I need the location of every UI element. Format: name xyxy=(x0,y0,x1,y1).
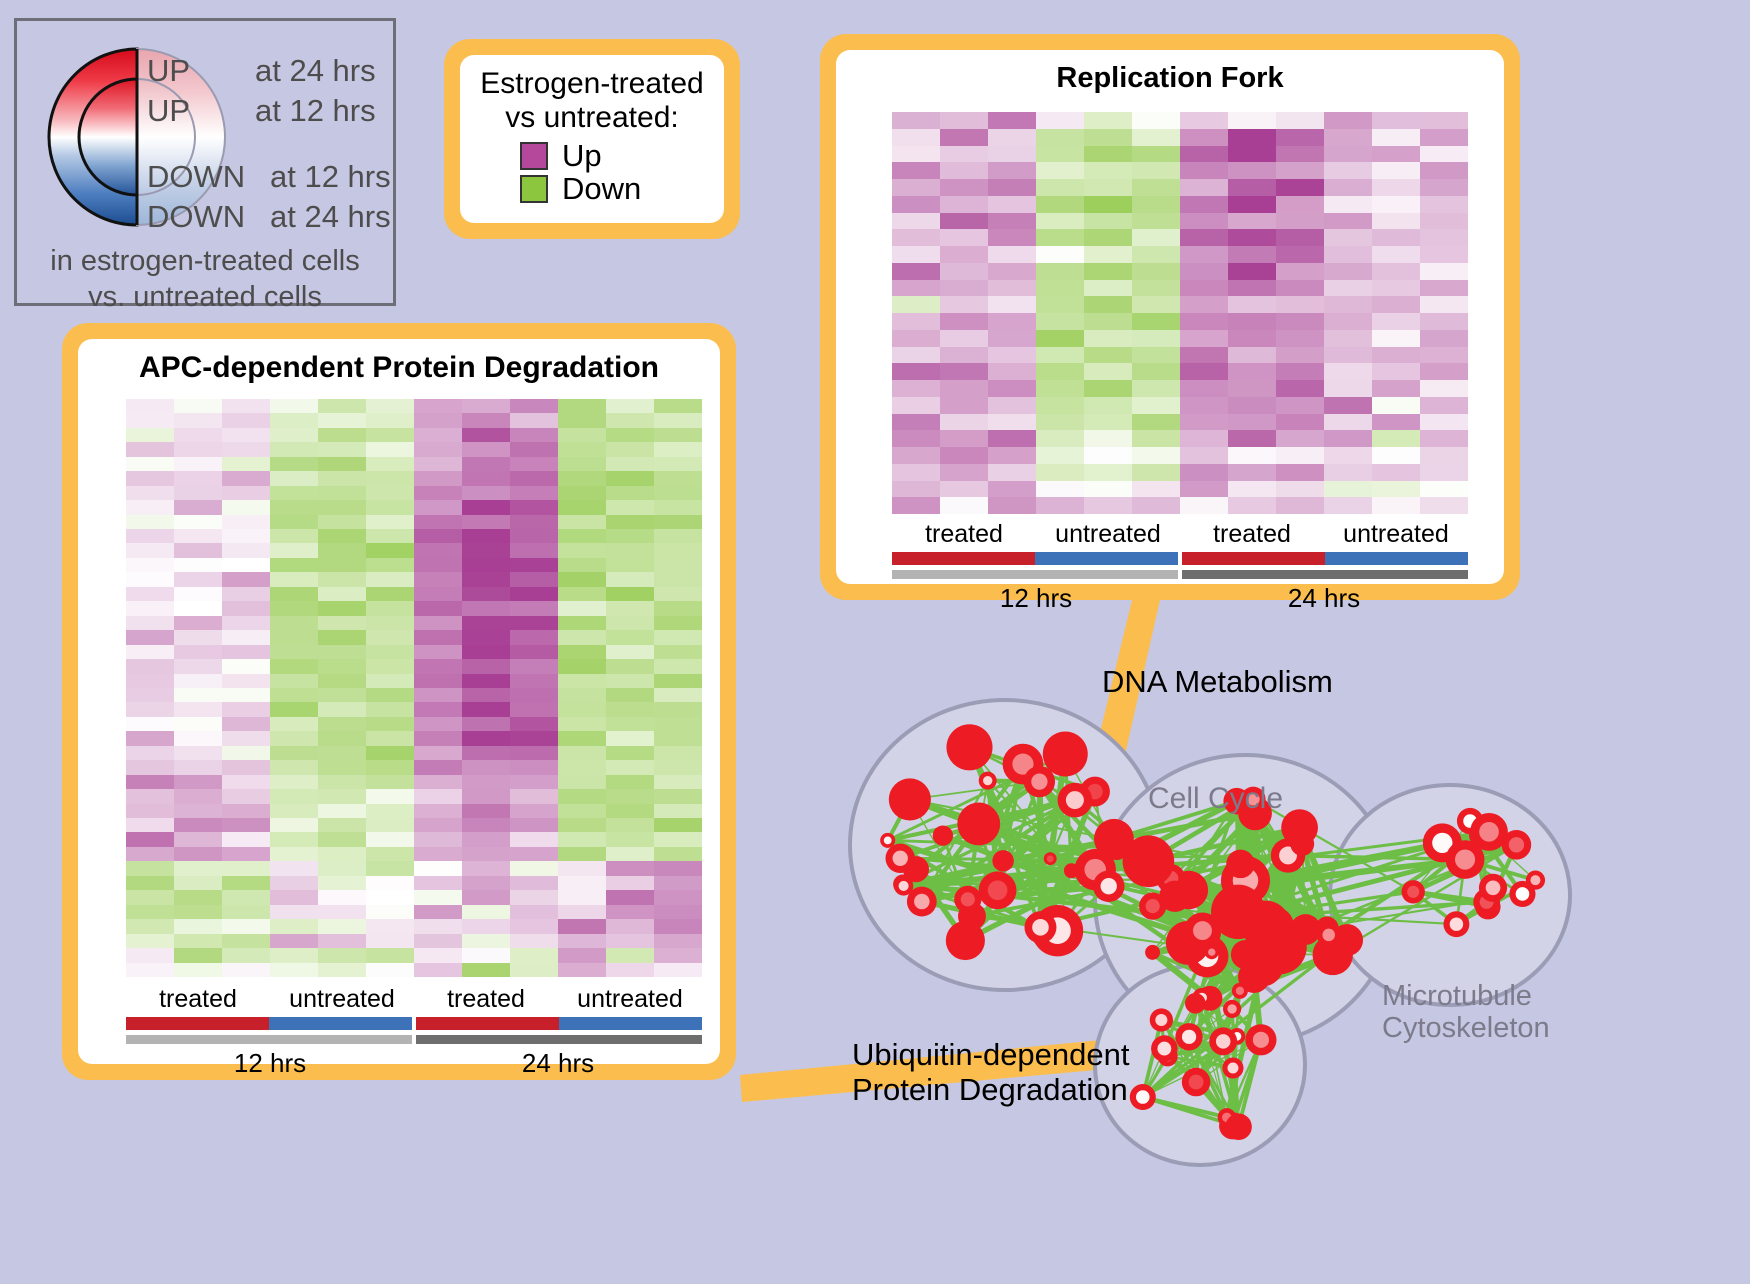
cluster-label-microtubule-line1: Microtubule xyxy=(1382,980,1550,1012)
legend-title: Estrogen-treated vs untreated: xyxy=(474,67,710,134)
annotation-replication: treateduntreatedtreateduntreated 12 hrs2… xyxy=(892,520,1468,614)
condition-label-2: treated xyxy=(414,985,558,1014)
network-node-core xyxy=(1253,1032,1269,1048)
network-node-core xyxy=(1450,917,1463,930)
key-time-1: at 12 hrs xyxy=(255,93,376,129)
network-diagram: DNA Metabolism Cell Cycle Microtubule Cy… xyxy=(790,610,1750,1279)
network-node-core xyxy=(1047,855,1054,862)
key-direction-2: DOWN xyxy=(147,159,245,195)
legend-title-line2: vs untreated: xyxy=(474,101,710,135)
network-node[interactable] xyxy=(946,724,992,770)
condition-label-0: treated xyxy=(892,520,1036,549)
network-node[interactable] xyxy=(1213,902,1246,935)
network-node-core xyxy=(1236,987,1244,995)
network-node[interactable] xyxy=(1123,835,1175,887)
condition-label-2: treated xyxy=(1180,520,1324,549)
network-node-core xyxy=(1216,1034,1230,1048)
condition-swatch-1 xyxy=(269,1017,412,1030)
legend-item-down: Down xyxy=(520,173,710,204)
timepoint-swatch-1 xyxy=(416,1035,702,1044)
key-time-0: at 24 hrs xyxy=(255,53,376,89)
panel-replication-fork: Replication Fork treateduntreatedtreated… xyxy=(820,34,1520,600)
network-node-core xyxy=(1509,837,1524,852)
condition-bar-apc xyxy=(126,1017,702,1030)
network-node-core xyxy=(1155,1014,1167,1026)
condition-swatch-1 xyxy=(1035,552,1178,565)
condition-labels-apc: treateduntreatedtreateduntreated xyxy=(126,985,702,1014)
network-node-core xyxy=(1189,1075,1204,1090)
cluster-label-cell-cycle: Cell Cycle xyxy=(1148,782,1283,816)
network-node-core xyxy=(884,836,892,844)
network-graph xyxy=(790,610,1750,1279)
network-node-core xyxy=(1182,1030,1196,1044)
network-node[interactable] xyxy=(1290,914,1321,945)
network-node-core xyxy=(1479,822,1499,842)
color-key-footer-line2: vs. untreated cells xyxy=(17,279,393,315)
condition-swatch-0 xyxy=(126,1017,269,1030)
timepoint-label-1: 24 hrs xyxy=(414,1048,702,1079)
legend-panel: Estrogen-treated vs untreated: Up Down xyxy=(444,39,740,239)
legend-items: Up Down xyxy=(474,140,710,204)
cluster-label-ubiquitin-line1: Ubiquitin-dependent xyxy=(852,1038,1130,1073)
panel-apc-degradation: APC-dependent Protein Degradation treate… xyxy=(62,323,736,1080)
network-node-core xyxy=(1208,948,1215,955)
legend-swatch-up-icon xyxy=(520,142,548,170)
network-node-core xyxy=(961,892,975,906)
network-node[interactable] xyxy=(1226,850,1255,879)
network-node-core xyxy=(983,776,992,785)
network-node-core xyxy=(1455,849,1475,869)
network-node-core xyxy=(1101,878,1117,894)
network-node-core xyxy=(1486,880,1501,895)
key-time-2: at 12 hrs xyxy=(270,159,391,195)
panel-apc-title: APC-dependent Protein Degradation xyxy=(78,339,720,385)
key-direction-3: DOWN xyxy=(147,199,245,235)
network-node-core xyxy=(1407,886,1419,898)
network-node-core xyxy=(1322,929,1335,942)
network-node-core xyxy=(1227,1004,1236,1013)
network-node[interactable] xyxy=(1241,944,1284,987)
network-node[interactable] xyxy=(933,825,953,845)
network-node[interactable] xyxy=(889,778,931,820)
condition-swatch-0 xyxy=(892,552,1035,565)
network-node[interactable] xyxy=(957,803,1000,846)
network-node-core xyxy=(988,880,1008,900)
network-node-core xyxy=(1066,791,1084,809)
legend-swatch-down-icon xyxy=(520,175,548,203)
network-node-core xyxy=(914,894,930,910)
cluster-label-ubiquitin: Ubiquitin-dependent Protein Degradation xyxy=(852,1038,1130,1107)
timepoint-labels-apc: 12 hrs24 hrs xyxy=(126,1048,702,1079)
condition-label-3: untreated xyxy=(1324,520,1468,549)
condition-label-1: untreated xyxy=(1036,520,1180,549)
network-node[interactable] xyxy=(992,850,1013,871)
heatmap-replication-fork xyxy=(892,112,1468,514)
color-key-footer: in estrogen-treated cells vs. untreated … xyxy=(17,243,393,316)
timepoint-swatch-1 xyxy=(1182,570,1468,579)
network-node[interactable] xyxy=(1241,901,1290,950)
condition-swatch-3 xyxy=(1325,552,1468,565)
condition-label-1: untreated xyxy=(270,985,414,1014)
network-node-core xyxy=(1227,1063,1238,1074)
network-node-core xyxy=(1031,773,1047,789)
network-node-core xyxy=(1146,899,1160,913)
color-key-box: UP at 24 hrs UP at 12 hrs DOWN at 12 hrs… xyxy=(14,18,396,306)
network-node-core xyxy=(1136,1090,1150,1104)
legend-label-up: Up xyxy=(562,140,602,171)
condition-bar-replication xyxy=(892,552,1468,565)
panel-replication-title: Replication Fork xyxy=(836,50,1504,95)
key-direction-1: UP xyxy=(147,93,190,129)
network-node-core xyxy=(1530,875,1540,885)
timepoint-swatch-0 xyxy=(126,1035,412,1044)
network-node-core xyxy=(893,851,908,866)
cluster-label-dna-metabolism: DNA Metabolism xyxy=(1102,665,1333,700)
network-node[interactable] xyxy=(946,921,985,960)
heatmap-apc-degradation xyxy=(126,399,702,977)
cluster-label-microtubule-line2: Cytoskeleton xyxy=(1382,1012,1550,1044)
annotation-apc: treateduntreatedtreateduntreated 12 hrs2… xyxy=(126,985,702,1079)
network-node[interactable] xyxy=(1145,945,1160,960)
key-direction-0: UP xyxy=(147,53,190,89)
legend-label-down: Down xyxy=(562,173,641,204)
network-node[interactable] xyxy=(1185,993,1206,1014)
condition-swatch-3 xyxy=(559,1017,702,1030)
network-node[interactable] xyxy=(1225,1114,1251,1140)
color-key-footer-line1: in estrogen-treated cells xyxy=(17,243,393,279)
network-node-core xyxy=(1032,919,1049,936)
condition-label-0: treated xyxy=(126,985,270,1014)
cluster-label-microtubule: Microtubule Cytoskeleton xyxy=(1382,980,1550,1045)
network-node[interactable] xyxy=(1043,732,1088,777)
timepoint-bar-apc xyxy=(126,1035,702,1044)
network-node-core xyxy=(1157,1042,1171,1056)
network-node[interactable] xyxy=(1281,809,1318,846)
network-node-core xyxy=(1193,921,1212,940)
condition-labels-replication: treateduntreatedtreateduntreated xyxy=(892,520,1468,549)
key-time-3: at 24 hrs xyxy=(270,199,391,235)
network-node-core xyxy=(899,881,909,891)
cluster-label-ubiquitin-line2: Protein Degradation xyxy=(852,1073,1130,1108)
timepoint-swatch-0 xyxy=(892,570,1178,579)
network-node-core xyxy=(1516,887,1530,901)
condition-label-3: untreated xyxy=(558,985,702,1014)
timepoint-bar-replication xyxy=(892,570,1468,579)
legend-item-up: Up xyxy=(520,140,710,171)
legend-title-line1: Estrogen-treated xyxy=(474,67,710,101)
condition-swatch-2 xyxy=(416,1017,559,1030)
timepoint-label-0: 12 hrs xyxy=(126,1048,414,1079)
condition-swatch-2 xyxy=(1182,552,1325,565)
